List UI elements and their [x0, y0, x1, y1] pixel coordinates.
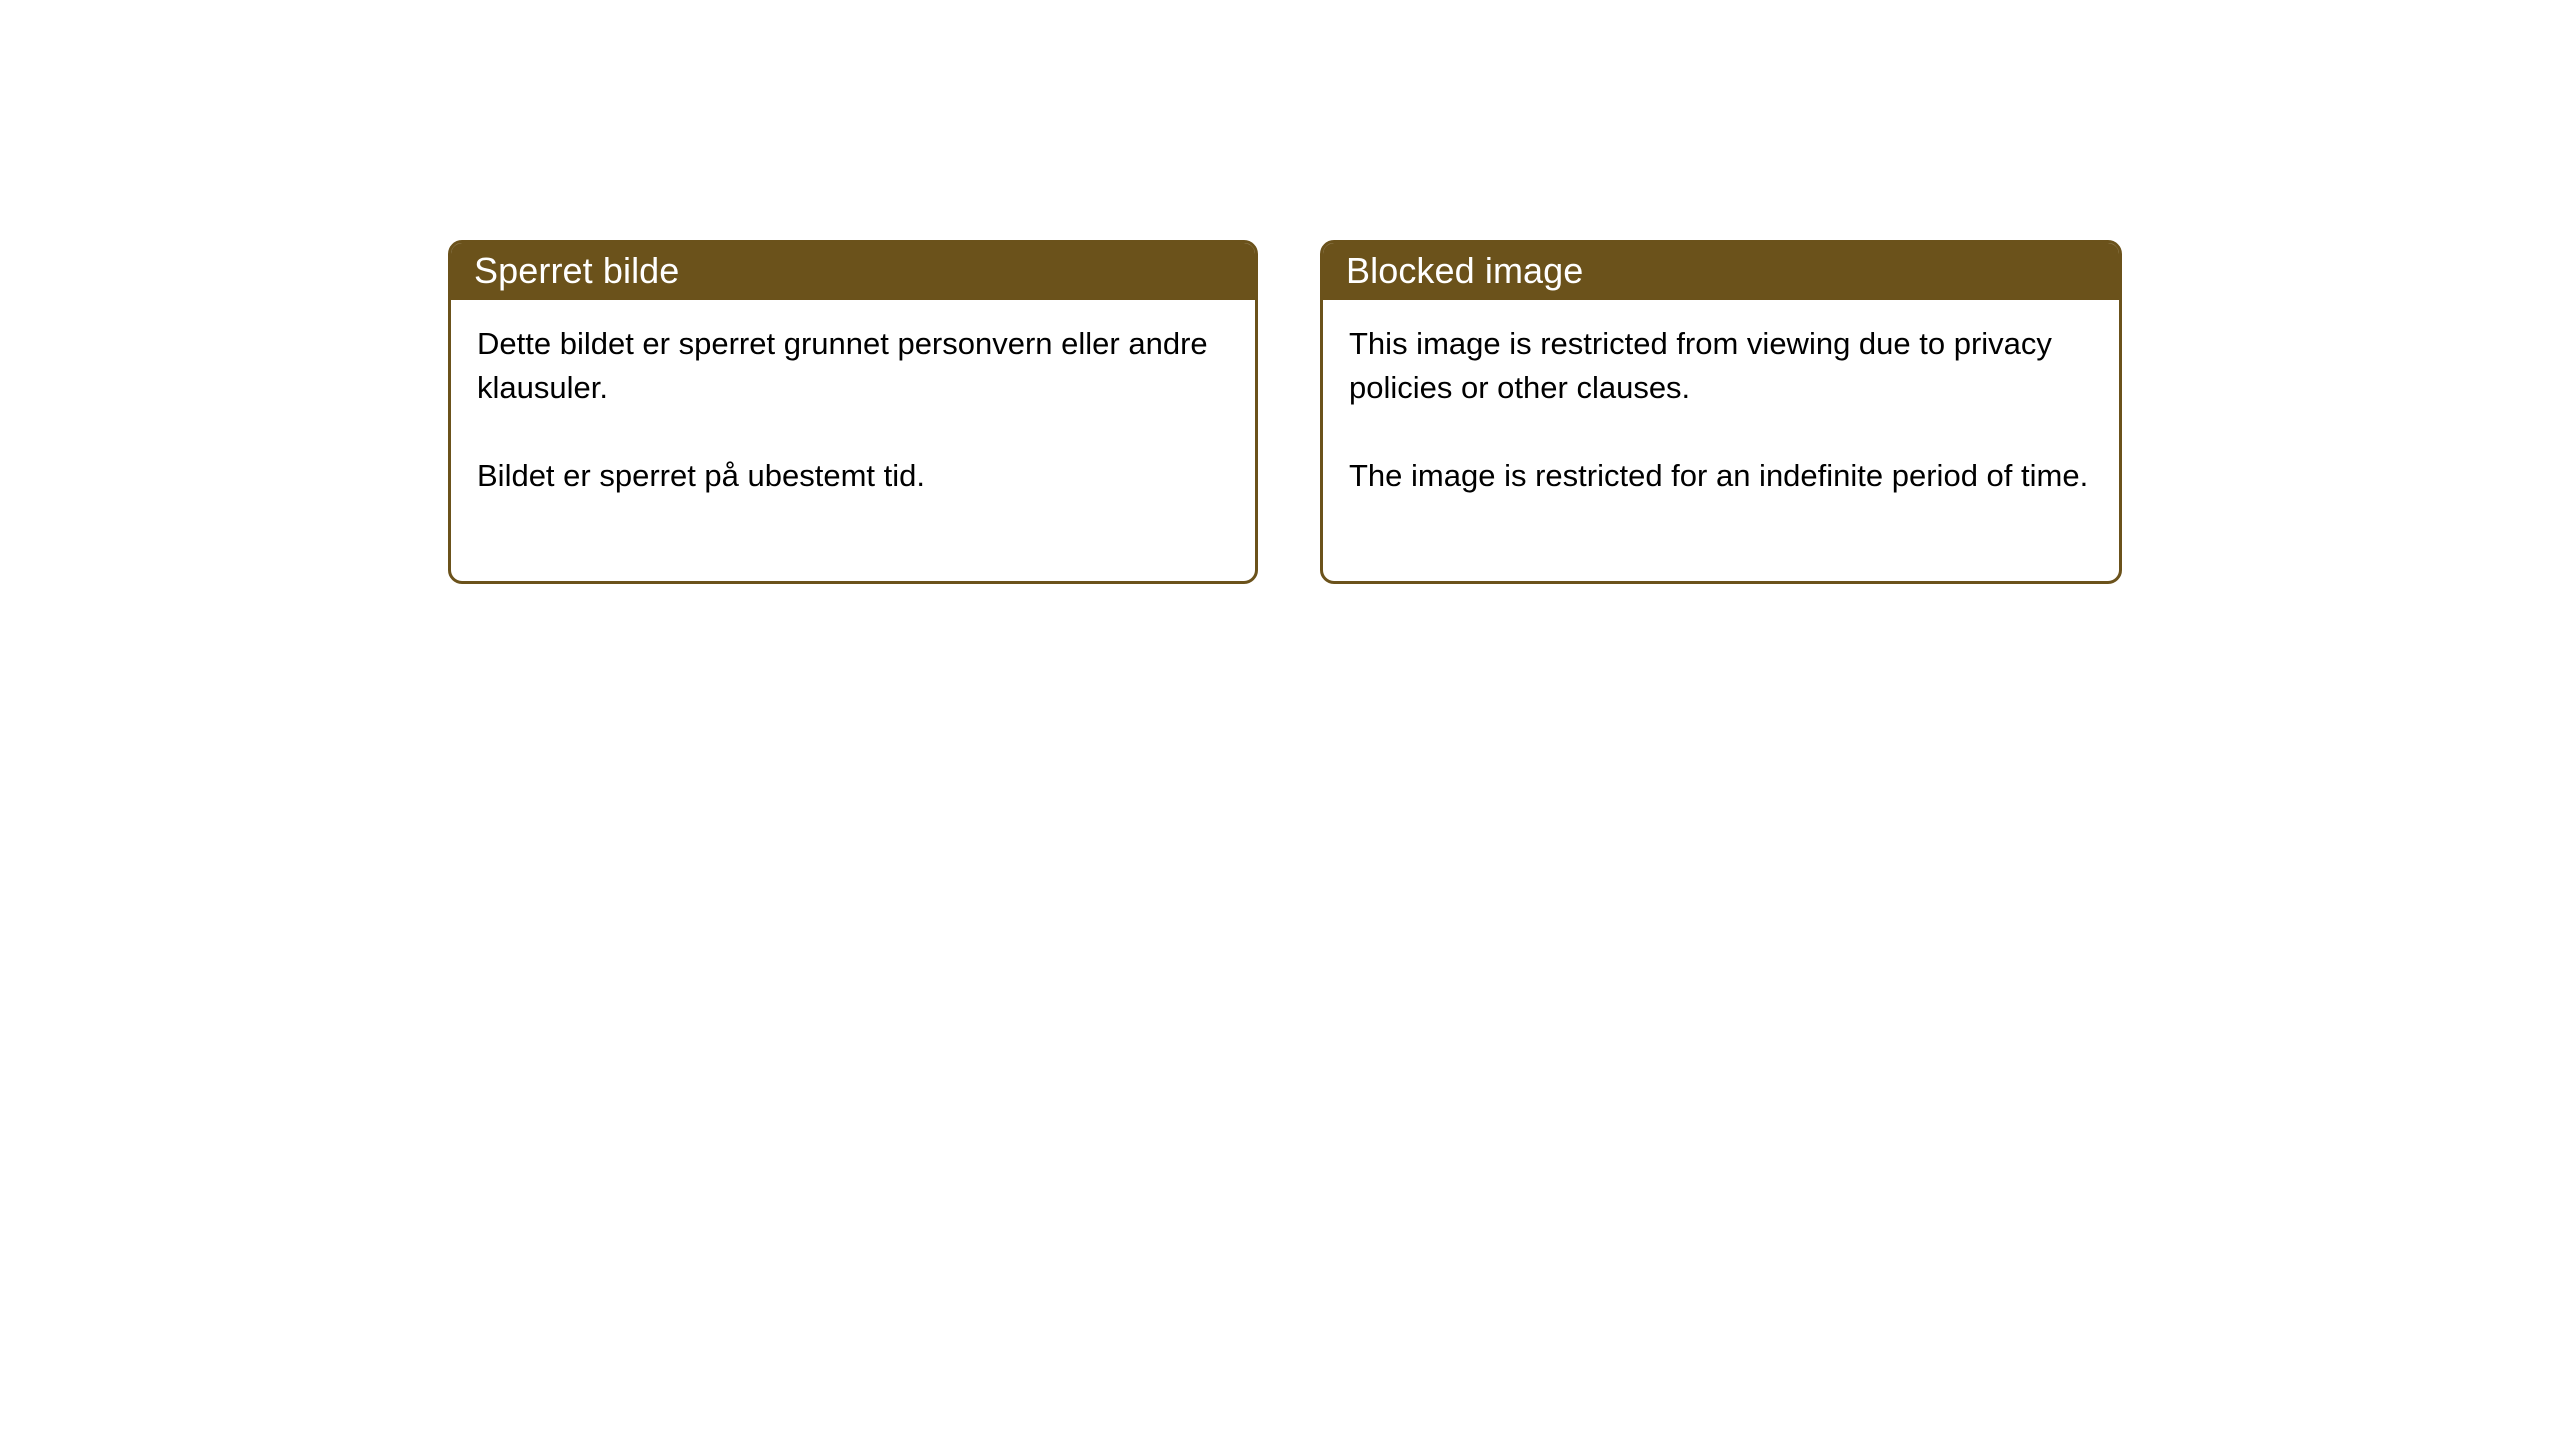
card-header-english: Blocked image [1322, 242, 2120, 300]
card-paragraph-english-1: This image is restricted from viewing du… [1349, 322, 2093, 410]
card-body-norwegian: Dette bildet er sperret grunnet personve… [451, 300, 1255, 581]
card-paragraph-norwegian-2: Bildet er sperret på ubestemt tid. [477, 454, 1229, 498]
blocked-image-card-english: Blocked image This image is restricted f… [1320, 240, 2122, 584]
card-header-norwegian: Sperret bilde [450, 242, 1256, 300]
blocked-image-card-norwegian: Sperret bilde Dette bildet er sperret gr… [448, 240, 1258, 584]
card-title-english: Blocked image [1346, 253, 1583, 289]
card-body-english: This image is restricted from viewing du… [1323, 300, 2119, 581]
card-title-norwegian: Sperret bilde [474, 253, 679, 289]
card-paragraph-norwegian-1: Dette bildet er sperret grunnet personve… [477, 322, 1229, 410]
page-canvas: Sperret bilde Dette bildet er sperret gr… [0, 0, 2560, 1440]
card-paragraph-english-2: The image is restricted for an indefinit… [1349, 454, 2093, 498]
blocked-image-notice-row: Sperret bilde Dette bildet er sperret gr… [448, 240, 2122, 584]
